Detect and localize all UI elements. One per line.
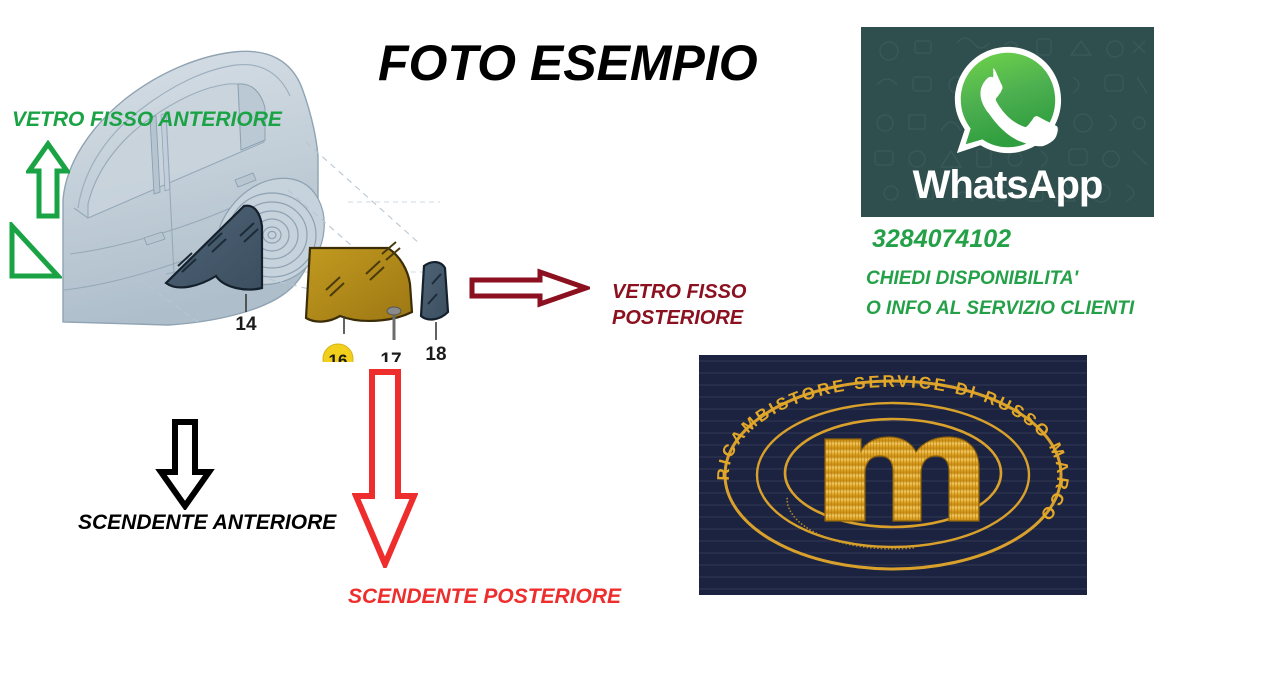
label-rear-fixed-glass: VETRO FISSO POSTERIORE xyxy=(612,280,746,331)
green-triangle-icon xyxy=(8,222,62,280)
label-rear-fixed-glass-line1: VETRO FISSO xyxy=(612,280,746,306)
phone-number[interactable]: 3284074102 xyxy=(872,225,1011,254)
label-rear-drop-glass: SCENDENTE POSTERIORE xyxy=(348,585,621,609)
whatsapp-icon xyxy=(949,41,1067,159)
glass-part-16: 16 xyxy=(306,242,412,362)
label-front-drop-glass: SCENDENTE ANTERIORE xyxy=(78,511,336,535)
car-exploded-diagram: 14 16 17 18 xyxy=(48,22,468,362)
contact-line-2: O INFO AL SERVIZIO CLIENTI xyxy=(866,298,1134,320)
black-down-arrow-icon xyxy=(155,418,215,510)
whatsapp-wordmark: WhatsApp xyxy=(861,165,1154,205)
svg-text:14: 14 xyxy=(235,314,257,335)
label-front-fixed-glass: VETRO FISSO ANTERIORE xyxy=(12,108,282,132)
dark-red-right-arrow-icon xyxy=(468,268,590,308)
whatsapp-banner: WhatsApp xyxy=(861,27,1154,217)
shop-logo: MRICAMBISTORE SERVICE DI RUSSO MARCO •••… xyxy=(699,355,1087,595)
glass-part-18: 18 xyxy=(421,262,448,362)
svg-text:16: 16 xyxy=(329,351,348,362)
svg-text:17: 17 xyxy=(380,350,401,362)
green-up-arrow-icon xyxy=(26,140,70,220)
contact-line-1: CHIEDI DISPONIBILITA' xyxy=(866,268,1078,290)
label-rear-fixed-glass-line2: POSTERIORE xyxy=(612,306,746,332)
svg-text:18: 18 xyxy=(425,344,446,362)
shop-logo-monogram xyxy=(825,437,979,521)
red-long-down-arrow-icon xyxy=(352,368,418,568)
